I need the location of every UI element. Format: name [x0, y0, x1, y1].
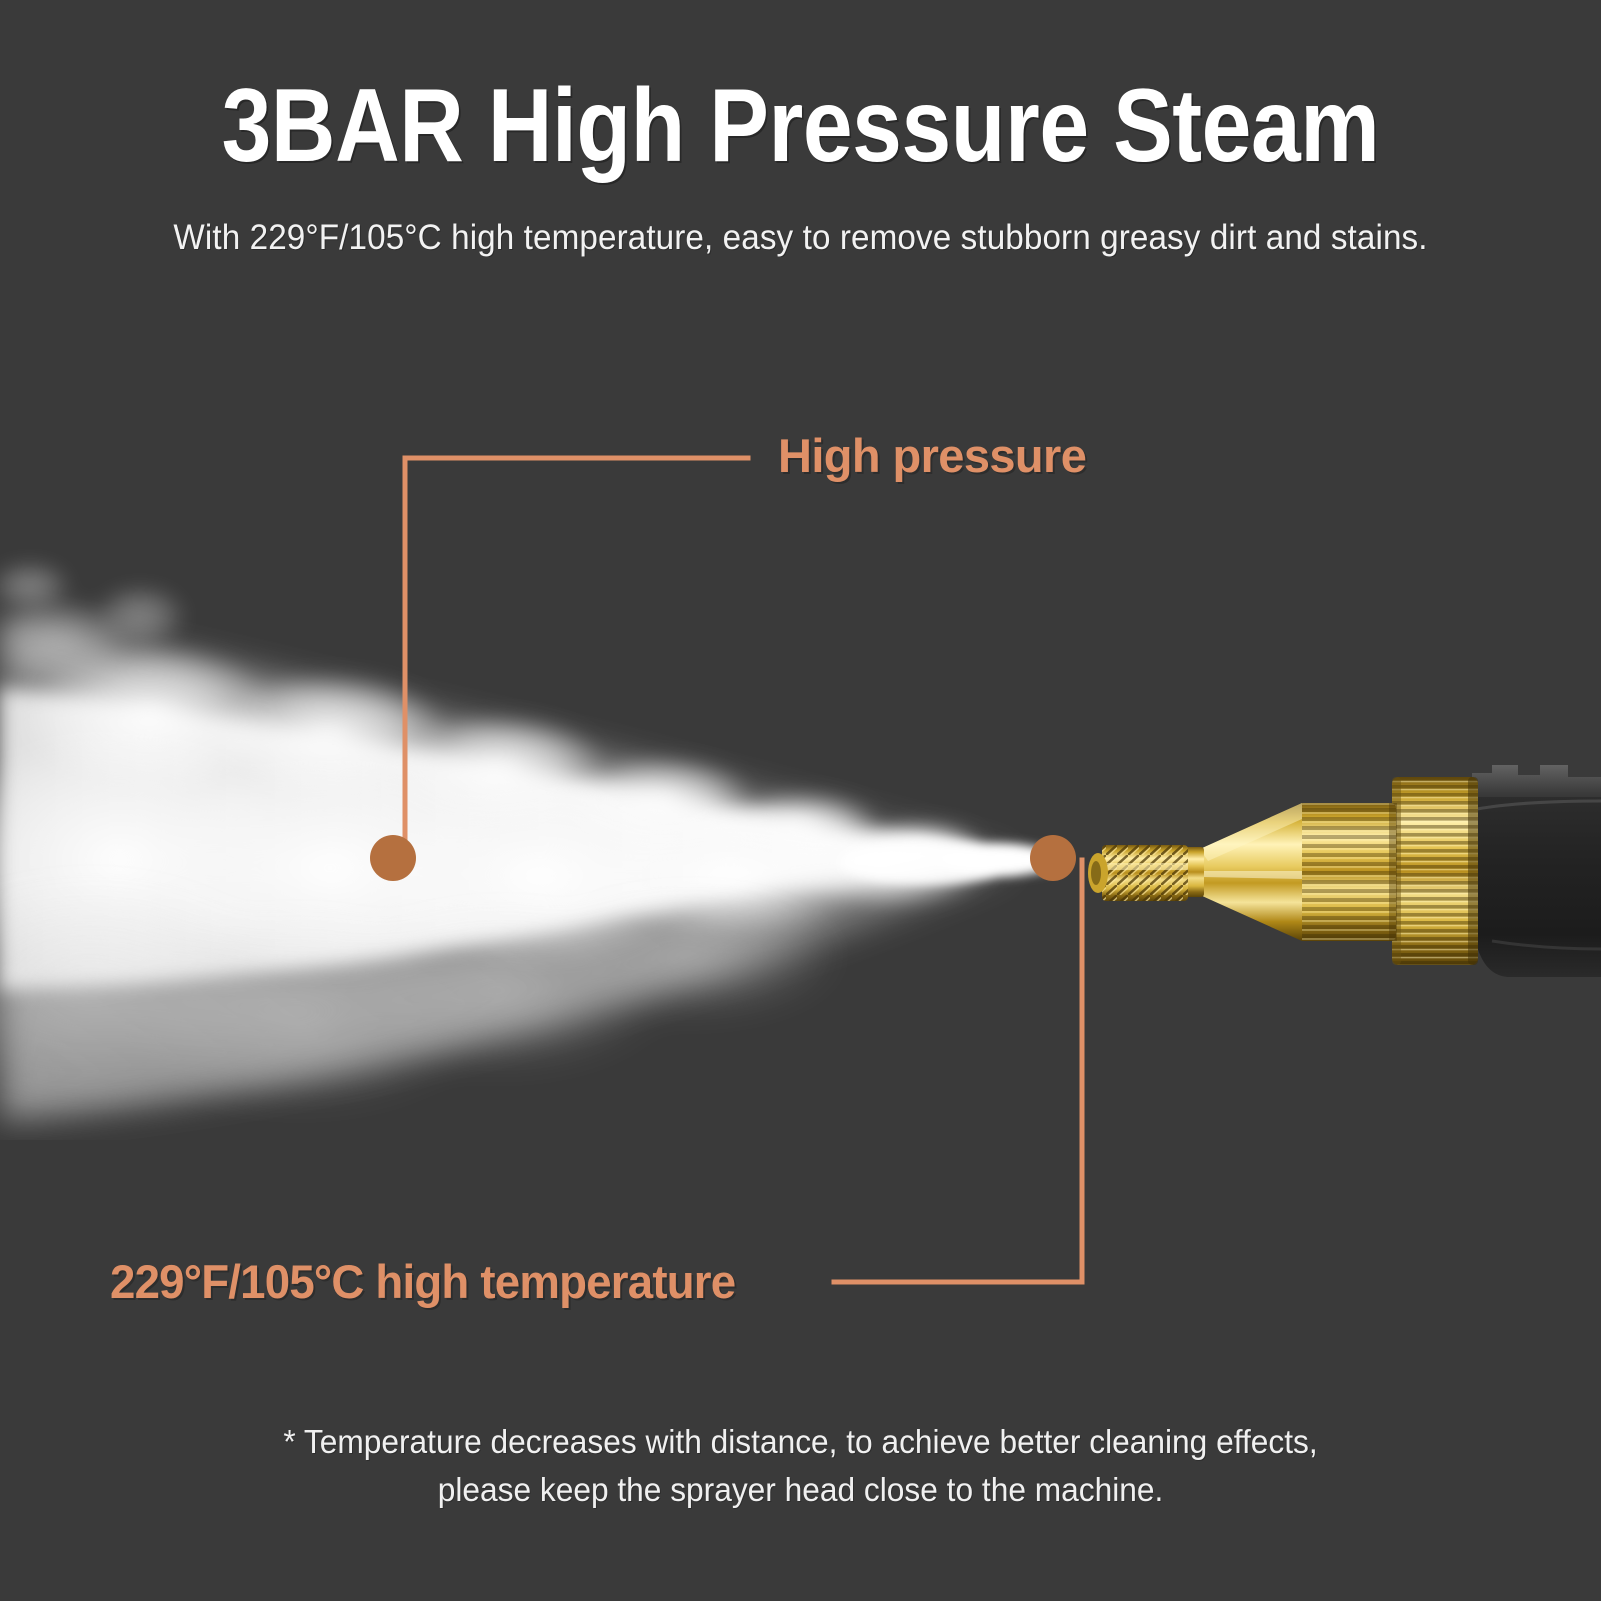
knurled-collar: [1392, 777, 1478, 965]
page-title: 3BAR High Pressure Steam: [112, 72, 1489, 180]
black-handle-body: [1472, 765, 1601, 977]
knurled-barrel: [1298, 803, 1397, 941]
threaded-tip: [1102, 845, 1188, 901]
footnote-line-1: * Temperature decreases with distance, t…: [32, 1418, 1569, 1466]
brass-nozzle-assembly: [1040, 745, 1601, 995]
callout-label-high-pressure: High pressure: [778, 428, 1086, 483]
product-infographic: 3BAR High Pressure Steam With 229°F/105°…: [0, 0, 1601, 1601]
page-subtitle: With 229°F/105°C high temperature, easy …: [40, 218, 1561, 258]
tapered-cone: [1200, 803, 1302, 941]
callout-label-high-temperature: 229°F/105°C high temperature: [110, 1254, 735, 1309]
footnote: * Temperature decreases with distance, t…: [32, 1418, 1569, 1514]
callout-marker-high-temperature: [1030, 835, 1076, 881]
callout-line-high-temperature: [834, 860, 1082, 1282]
steam-plume-graphic: [0, 520, 1110, 1140]
nozzle-graphic: [1040, 745, 1601, 995]
footnote-line-2: please keep the sprayer head close to th…: [32, 1466, 1569, 1514]
callout-marker-high-pressure: [370, 835, 416, 881]
nozzle-orifice: [1088, 853, 1108, 893]
steam-plume: [0, 520, 1110, 1140]
callout-line-high-pressure: [405, 458, 748, 858]
nozzle-shoulder: [1184, 847, 1204, 897]
